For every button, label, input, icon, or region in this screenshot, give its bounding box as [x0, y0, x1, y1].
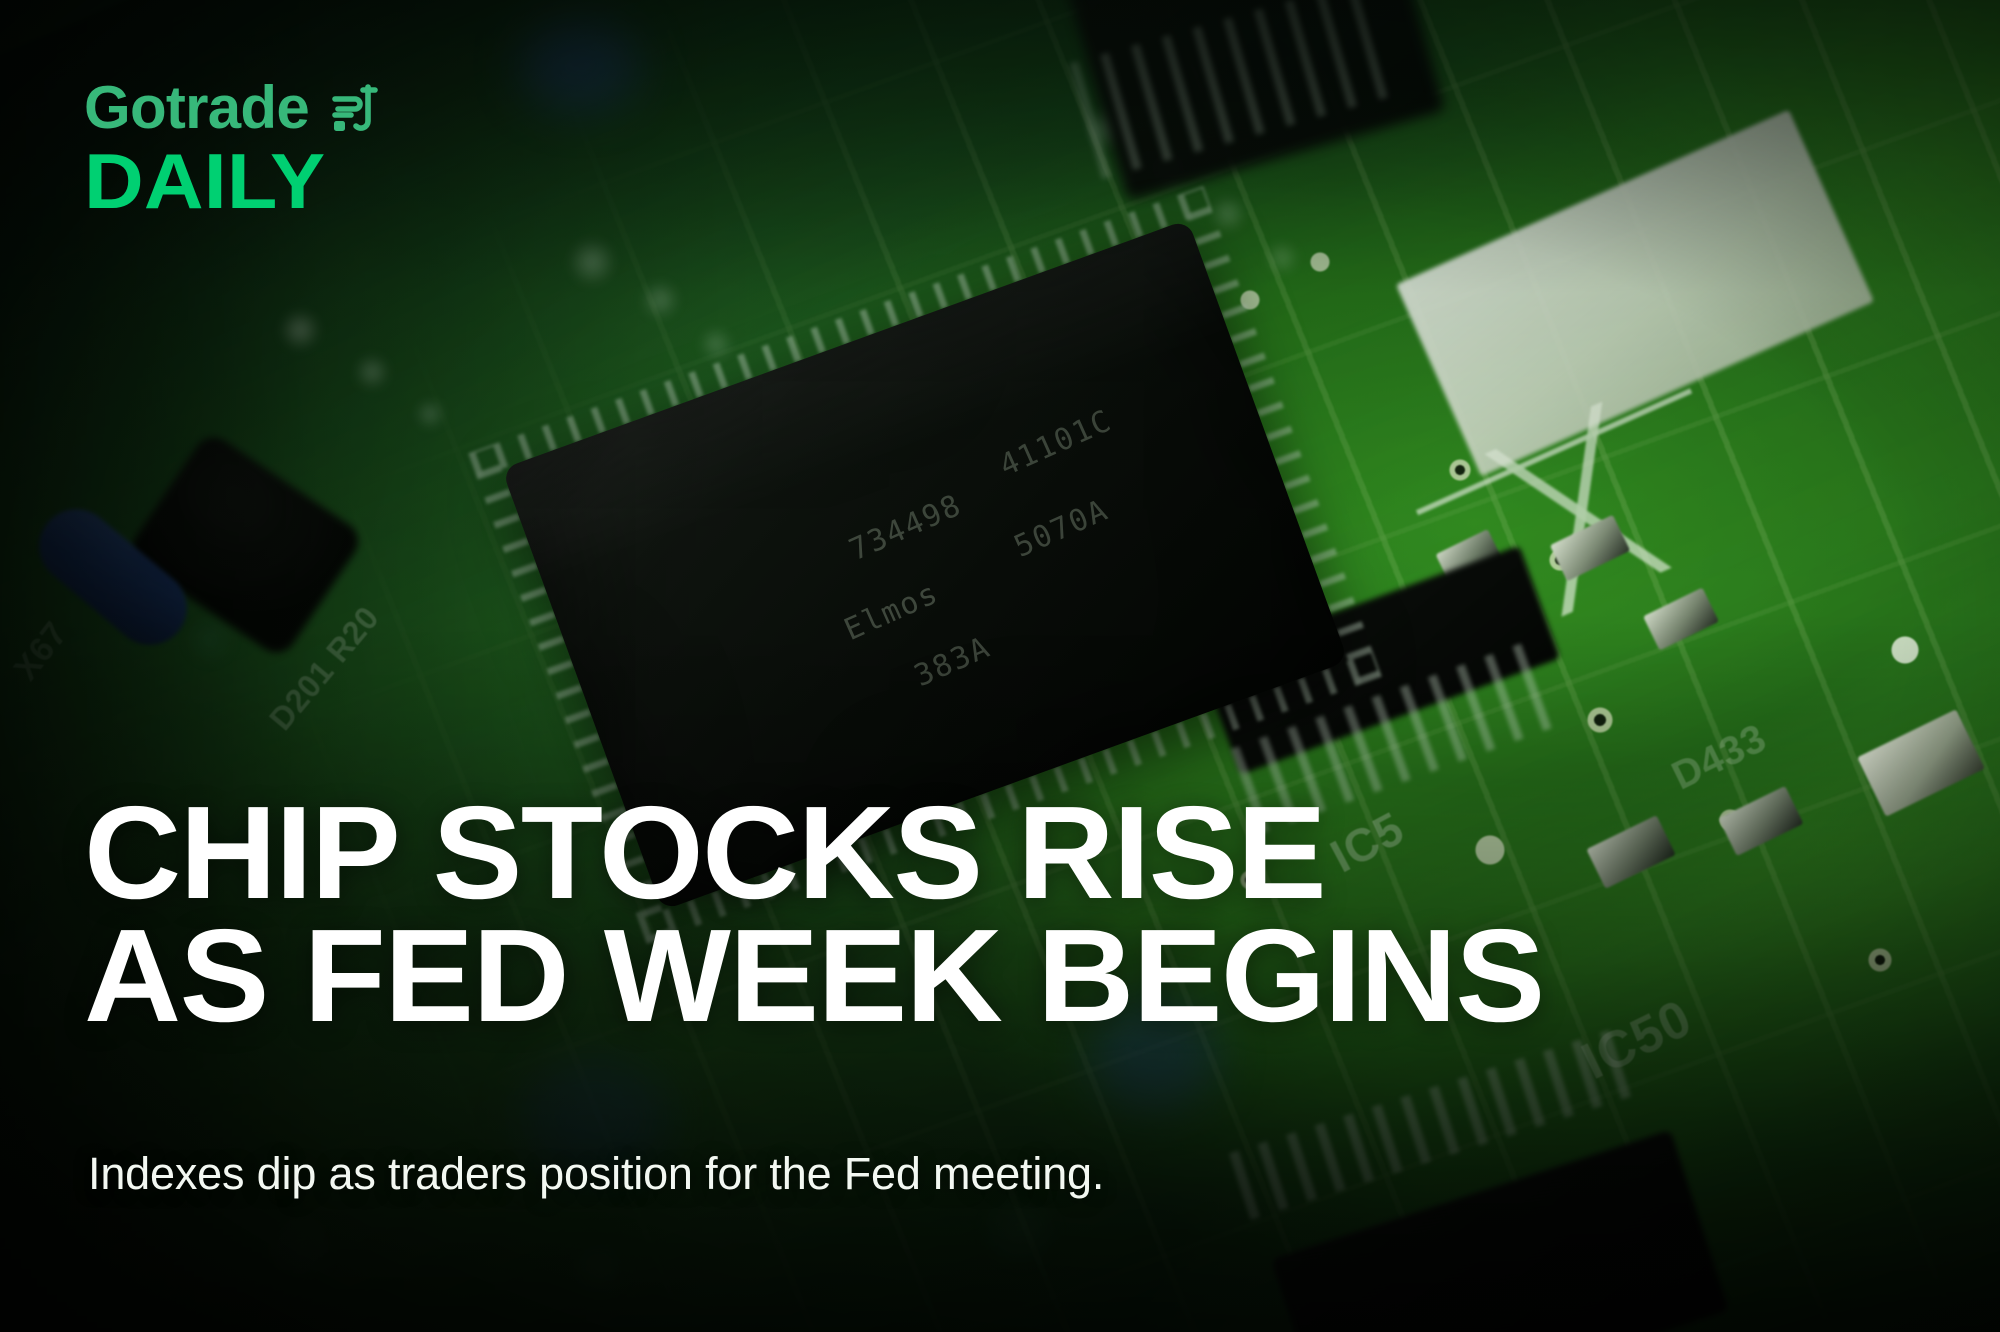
news-card: 734498 41101C Elmos 5070A 383A X67 D201 … [0, 0, 2000, 1332]
headline-line-1: CHIP STOCKS RISE [84, 792, 1736, 915]
headline-line-2: AS FED WEEK BEGINS [84, 915, 1736, 1038]
page-title: CHIP STOCKS RISE AS FED WEEK BEGINS [84, 792, 1704, 1038]
brand-logo[interactable]: Gotrade DAILY [84, 78, 383, 219]
article-subtitle: Indexes dip as traders position for the … [88, 1148, 1104, 1200]
brand-logo-row: Gotrade [84, 78, 383, 138]
gotrade-bar-chart-mark-icon [325, 81, 383, 135]
brand-wordmark: Gotrade [84, 78, 309, 138]
brand-edition-label: DAILY [84, 144, 401, 219]
